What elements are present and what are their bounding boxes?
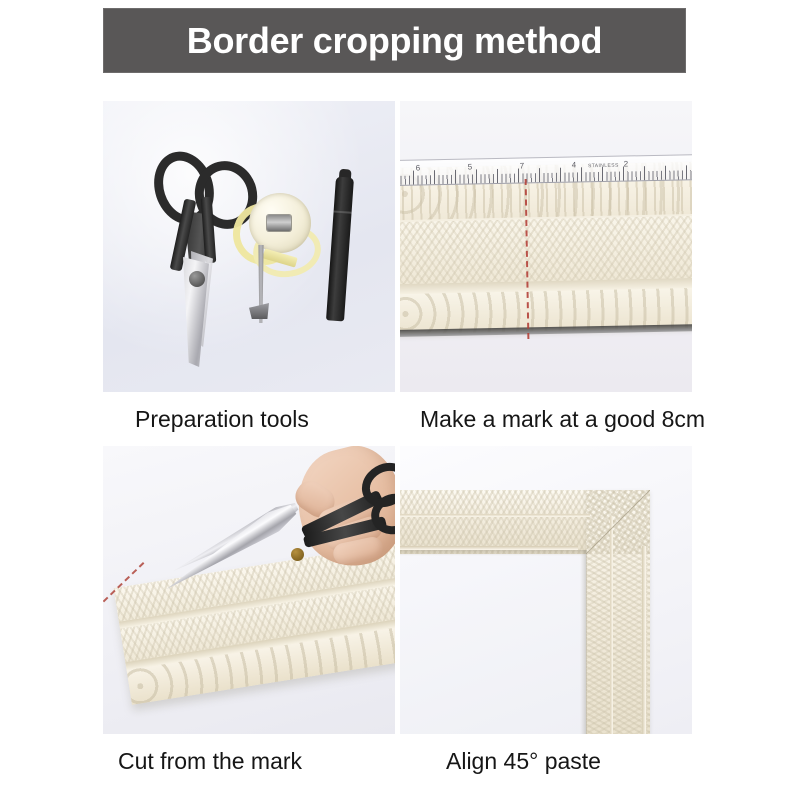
moulding-ridge-vertical-inner xyxy=(642,546,646,734)
ruler-brand-text: STAINLESS xyxy=(588,163,619,170)
step-align-45-paste: Align 45° paste xyxy=(400,446,692,788)
step-preparation-tools: Preparation tools xyxy=(103,101,395,446)
photo-cut-from-the-mark xyxy=(103,446,395,734)
caption-align-45-paste: Align 45° paste xyxy=(400,734,692,788)
page-title: Border cropping method xyxy=(187,23,602,59)
moulding-shadow-horizontal xyxy=(400,550,586,556)
photo-preparation-tools xyxy=(103,101,395,392)
caption-cut-from-the-mark: Cut from the mark xyxy=(103,734,395,788)
steps-grid: Preparation tools 6 5 xyxy=(103,101,693,781)
tape-measure-hook-end xyxy=(249,303,269,319)
scissors-pivot-screw xyxy=(291,548,304,561)
tape-measure-icon xyxy=(231,191,321,321)
moulding-shadow-vertical xyxy=(580,550,587,734)
poster-root: Border cropping method xyxy=(0,0,790,790)
photo-align-45-paste xyxy=(400,446,692,734)
border-moulding xyxy=(400,162,692,334)
ruler-number: 6 xyxy=(400,163,444,176)
step-make-a-mark: 6 5 7 4 2 STAINLESS Make a mark at a goo… xyxy=(400,101,692,446)
moulding-band-middle xyxy=(400,216,692,284)
tape-measure-window xyxy=(267,215,291,231)
scissors-pivot-screw xyxy=(189,271,205,287)
ruler-number: 7 xyxy=(496,161,548,174)
ruler-number: 5 xyxy=(444,162,496,175)
step-cut-from-the-mark: Cut from the mark xyxy=(103,446,395,788)
wall-inner-panel xyxy=(400,556,580,734)
photo-make-a-mark: 6 5 7 4 2 STAINLESS xyxy=(400,101,692,392)
caption-preparation-tools: Preparation tools xyxy=(103,392,395,446)
poster-title-bar: Border cropping method xyxy=(103,8,686,73)
moulding-ridge-horizontal-upper xyxy=(400,514,590,517)
caption-make-a-mark: Make a mark at a good 8cm xyxy=(400,392,692,446)
mitre-joint-line xyxy=(586,490,650,554)
